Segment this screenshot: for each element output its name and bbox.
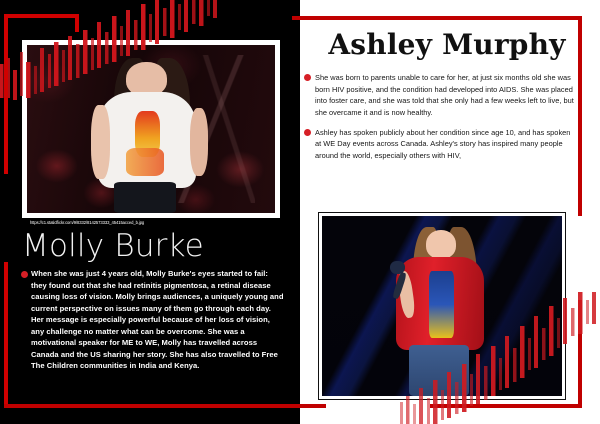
panel-divider-notch: [286, 0, 300, 424]
ashley-murphy-figure: [394, 227, 490, 396]
arm-left: [91, 105, 109, 179]
right-frame-bottom-rule-left: [264, 404, 326, 408]
molly-bullet-text: When she was just 4 years old, Molly Bur…: [31, 268, 284, 372]
molly-burke-title: Molly Burke: [22, 230, 204, 263]
ashley-murphy-photo: [322, 216, 562, 396]
top-left-red-elbow-vertical: [75, 14, 79, 32]
molly-burke-body: When she was just 4 years old, Molly Bur…: [22, 268, 284, 372]
arm-right: [190, 108, 208, 176]
right-frame-bottom-rule: [430, 404, 582, 408]
right-frame-right-rule-upper: [578, 16, 582, 216]
ashley-murphy-title: Ashley Murphy: [312, 28, 582, 61]
bullet-item: She was born to parents unable to care f…: [306, 72, 578, 119]
slide-canvas: https://c1.staticflickr.com/9/8332/81425…: [0, 0, 600, 424]
graphic-tshirt: [429, 271, 454, 339]
bottom-red-rule: [4, 404, 264, 408]
jeans: [409, 345, 469, 396]
left-red-rule-upper: [4, 14, 8, 174]
left-red-rule-lower: [4, 262, 8, 407]
head: [426, 230, 457, 259]
photo-credit-url: https://c1.staticflickr.com/9/8332/81425…: [30, 220, 280, 225]
bullet-item: Ashley has spoken publicly about her con…: [306, 127, 578, 162]
head: [126, 62, 167, 96]
ashley-bullet-text-2: Ashley has spoken publicly about her con…: [315, 127, 578, 162]
microphone-icon: [390, 261, 404, 275]
bullet-item: When she was just 4 years old, Molly Bur…: [22, 268, 284, 372]
bullet-dot-icon: [304, 74, 311, 81]
bullet-dot-icon: [21, 271, 28, 278]
bullet-dot-icon: [304, 129, 311, 136]
legs: [114, 182, 176, 213]
ashley-murphy-photo-frame: [318, 212, 566, 400]
molly-burke-figure: [91, 58, 205, 213]
right-frame-right-rule-lower: [578, 300, 582, 405]
molly-burke-photo: [27, 45, 275, 213]
molly-burke-photo-frame: [22, 40, 280, 218]
right-frame-top-rule: [292, 16, 582, 20]
ashley-bullet-text-1: She was born to parents unable to care f…: [315, 72, 578, 119]
ashley-murphy-body: She was born to parents unable to care f…: [306, 72, 578, 162]
black-panel-footer: [0, 420, 300, 424]
tshirt-graphic-secondary: [126, 148, 165, 176]
top-left-red-elbow-horizontal: [4, 14, 79, 18]
